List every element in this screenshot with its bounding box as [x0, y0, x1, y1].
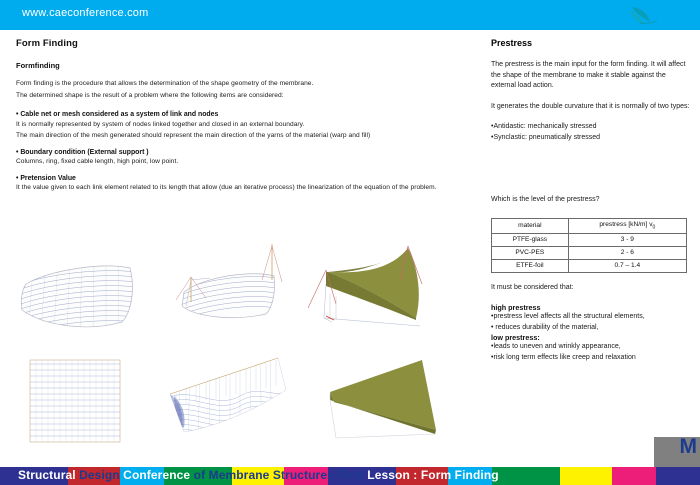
footer-title: Structural Design Conference of Membrane… — [18, 468, 658, 485]
prestress-table: material prestress [kN/m] v0 PTFE-glass … — [491, 218, 687, 273]
footer-word-structural: Structural — [18, 468, 76, 482]
table-row: PTFE-glass 3 - 9 — [492, 233, 687, 246]
high-prestress-point-1: •prestress level affects all the structu… — [491, 312, 691, 323]
prestress-title: Prestress — [491, 38, 691, 48]
prestress-considered-note: It must be considered that: — [491, 283, 691, 294]
simm-logo: M — [654, 437, 700, 467]
footer-word-conference: Conference — [123, 468, 190, 482]
header-url-label: www.caeconference.com — [22, 7, 148, 19]
simm-logo-letter: M — [680, 435, 698, 459]
left-item-boundary-condition: • Boundary condition (External support )… — [16, 149, 486, 167]
spacer — [16, 102, 486, 111]
prestress-paragraph-2: It generates the double curvature that i… — [491, 102, 691, 113]
spacer — [491, 112, 691, 122]
spacer — [491, 92, 691, 102]
header-bar: www.caeconference.com — [0, 0, 700, 30]
prestress-type-synclastic: •Synclastic: pneumatically stressed — [491, 133, 691, 144]
caeconference-leaf-logo — [628, 4, 668, 28]
left-subtitle: Formfinding — [16, 61, 486, 70]
figure-gallery — [0, 228, 490, 468]
left-item-pretension-value-line-1: It the value given to each link element … — [16, 183, 486, 193]
spacer — [491, 293, 691, 303]
footer-word-design: Design — [79, 468, 120, 482]
table-header-prestress-subscript: 0 — [653, 224, 656, 230]
footer-stripe-segment — [656, 467, 700, 485]
slide-root: www.caeconference.com Form Finding Formf… — [0, 0, 700, 485]
right-column: Prestress The prestress is the main inpu… — [491, 38, 691, 363]
table-cell-value: 2 - 6 — [568, 246, 686, 259]
left-column: Form Finding Formfinding Form finding is… — [16, 38, 486, 201]
high-prestress-label: high prestress — [491, 303, 691, 312]
low-prestress-point-2: •risk long term effects like creep and r… — [491, 353, 691, 364]
left-item-cable-net-line-1: It is normally represented by system of … — [16, 120, 486, 130]
spacer — [491, 206, 691, 218]
footer-word-lesson-form-finding: Lesson : Form Finding — [367, 468, 498, 482]
table-header-prestress: prestress [kN/m] v0 — [568, 218, 686, 233]
table-cell-material: PTFE-glass — [492, 233, 569, 246]
table-row: ETFE-foil 0.7 – 1.4 — [492, 259, 687, 272]
table-cell-value: 3 - 9 — [568, 233, 686, 246]
table-header-row: material prestress [kN/m] v0 — [492, 218, 687, 233]
prestress-type-anticlastic: •Antidastic: mechanically stressed — [491, 122, 691, 133]
prestress-paragraph-1: The prestress is the main input for the … — [491, 60, 691, 92]
table-header-prestress-label: prestress [kN/m] v — [599, 221, 652, 228]
prestress-question: Which is the level of the prestress? — [491, 195, 691, 206]
footer-word-of-membrane-structures: of Membrane Structures — [194, 468, 334, 482]
table-cell-value: 0.7 – 1.4 — [568, 259, 686, 272]
figure-conic-mesh-wireframe — [158, 240, 288, 340]
table-row: PVC-PES 2 - 6 — [492, 246, 687, 259]
left-item-pretension-value: • Pretension Value It the value given to… — [16, 175, 486, 193]
left-item-pretension-value-head: • Pretension Value — [16, 175, 486, 182]
left-item-cable-net: • Cable net or mesh considered as a syst… — [16, 111, 486, 141]
figure-flat-panel-olive — [300, 356, 480, 452]
left-item-cable-net-line-2: The main direction of the mesh generated… — [16, 131, 486, 141]
table-header-material: material — [492, 218, 569, 233]
left-item-cable-net-head: • Cable net or mesh considered as a syst… — [16, 111, 486, 118]
low-prestress-point-1: •leads to uneven and wrinkly appearance, — [491, 342, 691, 353]
figure-hypar-tent-olive — [296, 234, 486, 349]
left-item-boundary-condition-line-1: Columns, ring, fixed cable length, high … — [16, 157, 486, 167]
table-cell-material: PVC-PES — [492, 246, 569, 259]
figure-hypar-mesh-wireframe — [10, 248, 150, 338]
spacer — [491, 143, 691, 195]
left-intro-line-1: Form finding is the procedure that allow… — [16, 79, 486, 89]
left-intro-line-2: The determined shape is the result of a … — [16, 91, 486, 101]
footer-word-first: First — [337, 468, 364, 482]
footer-bar: Structural Design Conference of Membrane… — [0, 467, 700, 485]
left-item-boundary-condition-head: • Boundary condition (External support ) — [16, 149, 486, 156]
low-prestress-label: low prestress: — [491, 333, 691, 342]
figure-flat-grid-mesh — [28, 356, 123, 446]
figure-wave-mesh-surface — [162, 350, 292, 446]
spacer — [491, 273, 691, 283]
page-title: Form Finding — [16, 38, 486, 49]
table-cell-material: ETFE-foil — [492, 259, 569, 272]
high-prestress-point-2: • reduces durability of the material, — [491, 323, 691, 334]
